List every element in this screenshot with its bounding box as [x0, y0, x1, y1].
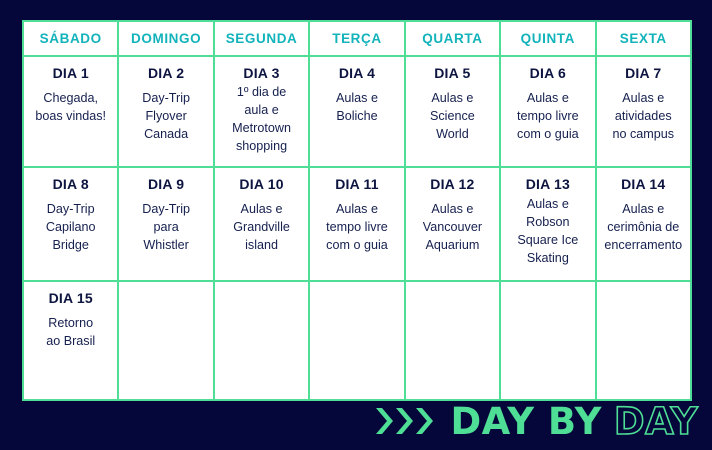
table-row: DIA 15 Retornoao Brasil	[23, 281, 691, 400]
column-header-quinta: QUINTA	[500, 21, 595, 56]
column-header-quarta: QUARTA	[405, 21, 500, 56]
day-description: Aulas eBoliche	[314, 90, 399, 126]
day-description: Aulas eatividadesno campus	[601, 90, 686, 144]
day-description: Day-TripFlyoverCanada	[123, 90, 208, 144]
day-cell: DIA 10 Aulas eGrandvilleisland	[214, 167, 309, 281]
logo: DAY BY DAY	[376, 403, 698, 440]
day-cell: DIA 12 Aulas eVancouverAquarium	[405, 167, 500, 281]
day-cell: DIA 4 Aulas eBoliche	[309, 56, 404, 167]
day-cell: DIA 11 Aulas etempo livrecom o guia	[309, 167, 404, 281]
day-cell: DIA 14 Aulas ecerimônia deencerramento	[596, 167, 691, 281]
day-title: DIA 6	[505, 66, 590, 81]
day-title: DIA 2	[123, 66, 208, 81]
column-header-label: SEXTA	[597, 32, 690, 46]
footer-logo-bar: DAY BY DAY	[0, 392, 712, 450]
day-cell-empty	[405, 281, 500, 400]
day-cell: DIA 1 Chegada,boas vindas!	[23, 56, 118, 167]
day-description: Aulas etempo livrecom o guia	[505, 90, 590, 144]
day-cell: DIA 3 1º dia deaula eMetrotownshopping	[214, 56, 309, 167]
day-cell: DIA 5 Aulas eScienceWorld	[405, 56, 500, 167]
day-cell-empty	[118, 281, 213, 400]
day-cell-empty	[309, 281, 404, 400]
day-cell: DIA 6 Aulas etempo livrecom o guia	[500, 56, 595, 167]
day-title: DIA 7	[601, 66, 686, 81]
day-cell: DIA 2 Day-TripFlyoverCanada	[118, 56, 213, 167]
column-header-domingo: DOMINGO	[118, 21, 213, 56]
table-header-row: SÁBADO DOMINGO SEGUNDA TERÇA QUARTA QUIN…	[23, 21, 691, 56]
column-header-label: SÁBADO	[24, 32, 117, 46]
day-cell: DIA 8 Day-TripCapilanoBridge	[23, 167, 118, 281]
day-cell-empty	[214, 281, 309, 400]
day-description: Day-TripparaWhistler	[123, 201, 208, 255]
day-title: DIA 4	[314, 66, 399, 81]
day-title: DIA 9	[123, 177, 208, 192]
day-description: Retornoao Brasil	[28, 315, 113, 351]
day-title: DIA 1	[28, 66, 113, 81]
column-header-label: TERÇA	[310, 32, 403, 46]
logo-word-outline: DAY	[614, 403, 698, 440]
day-title: DIA 8	[28, 177, 113, 192]
day-title: DIA 10	[219, 177, 304, 192]
table-row: DIA 8 Day-TripCapilanoBridge DIA 9 Day-T…	[23, 167, 691, 281]
day-title: DIA 15	[28, 291, 113, 306]
day-description: Aulas eVancouverAquarium	[410, 201, 495, 255]
column-header-sexta: SEXTA	[596, 21, 691, 56]
column-header-segunda: SEGUNDA	[214, 21, 309, 56]
day-title: DIA 3	[219, 66, 304, 81]
day-cell: DIA 15 Retornoao Brasil	[23, 281, 118, 400]
day-cell-empty	[500, 281, 595, 400]
day-cell: DIA 13 Aulas eRobsonSquare IceSkating	[500, 167, 595, 281]
logo-word-solid: DAY BY	[450, 403, 601, 440]
column-header-label: QUINTA	[501, 32, 594, 46]
logo-wordmark: DAY BY DAY	[450, 403, 698, 440]
day-description: Aulas etempo livrecom o guia	[314, 201, 399, 255]
column-header-sabado: SÁBADO	[23, 21, 118, 56]
table-row: DIA 1 Chegada,boas vindas! DIA 2 Day-Tri…	[23, 56, 691, 167]
day-description: 1º dia deaula eMetrotownshopping	[219, 84, 304, 156]
triple-chevron-right-icon	[376, 406, 434, 436]
day-cell: DIA 7 Aulas eatividadesno campus	[596, 56, 691, 167]
page-root: SÁBADO DOMINGO SEGUNDA TERÇA QUARTA QUIN…	[0, 0, 712, 450]
day-description: Chegada,boas vindas!	[28, 90, 113, 126]
day-description: Aulas ecerimônia deencerramento	[601, 201, 686, 255]
day-title: DIA 11	[314, 177, 399, 192]
day-title: DIA 12	[410, 177, 495, 192]
day-title: DIA 5	[410, 66, 495, 81]
day-description: Aulas eScienceWorld	[410, 90, 495, 144]
column-header-terca: TERÇA	[309, 21, 404, 56]
day-title: DIA 14	[601, 177, 686, 192]
day-description: Aulas eGrandvilleisland	[219, 201, 304, 255]
column-header-label: DOMINGO	[119, 32, 212, 46]
schedule-table: SÁBADO DOMINGO SEGUNDA TERÇA QUARTA QUIN…	[22, 20, 692, 401]
day-title: DIA 13	[505, 177, 590, 192]
column-header-label: QUARTA	[406, 32, 499, 46]
day-description: Day-TripCapilanoBridge	[28, 201, 113, 255]
column-header-label: SEGUNDA	[215, 32, 308, 46]
day-cell: DIA 9 Day-TripparaWhistler	[118, 167, 213, 281]
day-description: Aulas eRobsonSquare IceSkating	[505, 196, 590, 268]
day-cell-empty	[596, 281, 691, 400]
